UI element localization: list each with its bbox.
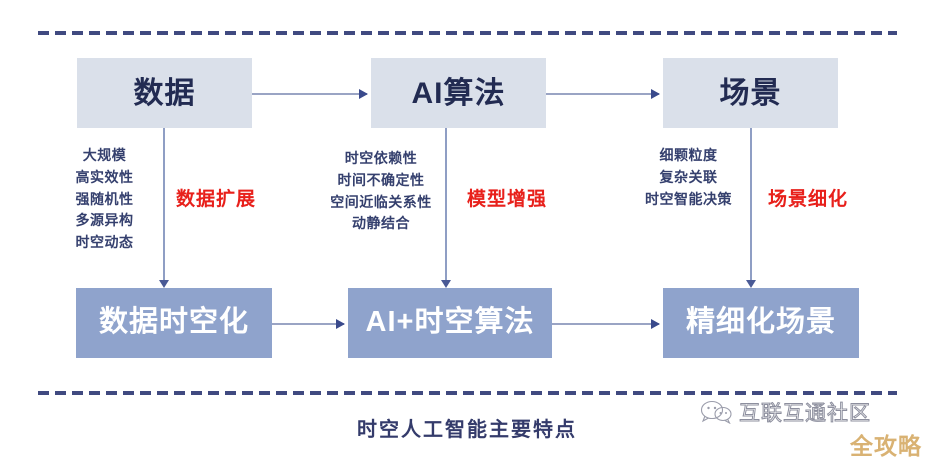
arrow-data-to-algorithm bbox=[252, 93, 367, 95]
node-fine-grained-scene: 精细化场景 bbox=[663, 288, 859, 358]
arrow-ai-spatiotemporal-to-fine-scene bbox=[552, 323, 659, 325]
feature-item: 时间不确定性 bbox=[322, 170, 440, 192]
arrow-algorithm-to-ai-spatiotemporal bbox=[445, 128, 447, 280]
transform-label-data-expansion: 数据扩展 bbox=[176, 184, 256, 211]
top-dashed-divider bbox=[38, 31, 897, 35]
feature-item: 空间近临关系性 bbox=[322, 192, 440, 214]
node-data-spatiotemporal: 数据时空化 bbox=[76, 288, 272, 358]
arrow-algorithm-to-scene bbox=[546, 93, 659, 95]
node-ai-algorithm: AI算法 bbox=[371, 58, 546, 128]
diagram-canvas: 数据 AI算法 场景 大规模 高实效性 强随机性 多源异构 时空动态 时空依赖性… bbox=[0, 0, 934, 454]
feature-list-algorithm: 时空依赖性 时间不确定性 空间近临关系性 动静结合 bbox=[322, 148, 440, 235]
feature-item: 时空动态 bbox=[52, 232, 157, 254]
wechat-bubble-icon bbox=[700, 400, 734, 424]
arrow-data-to-data-spatiotemporal bbox=[163, 128, 165, 280]
feature-item: 细颗粒度 bbox=[632, 145, 745, 167]
feature-item: 大规模 bbox=[52, 145, 157, 167]
bottom-dashed-divider bbox=[38, 391, 897, 395]
node-scene: 场景 bbox=[663, 58, 838, 128]
node-ai-spatiotemporal-algorithm: AI+时空算法 bbox=[348, 288, 552, 358]
feature-item: 复杂关联 bbox=[632, 167, 745, 189]
feature-item: 强随机性 bbox=[52, 189, 157, 211]
feature-item: 高实效性 bbox=[52, 167, 157, 189]
watermark-row: 互联互通社区 bbox=[700, 398, 930, 426]
watermark: 互联互通社区 全攻略 bbox=[700, 398, 930, 454]
watermark-brand: 互联互通社区 bbox=[739, 397, 871, 427]
arrow-scene-to-fine-scene bbox=[750, 128, 752, 280]
arrow-data-spatiotemporal-to-ai-spatiotemporal bbox=[272, 323, 344, 325]
feature-item: 多源异构 bbox=[52, 210, 157, 232]
node-data: 数据 bbox=[77, 58, 252, 128]
feature-list-scene: 细颗粒度 复杂关联 时空智能决策 bbox=[632, 145, 745, 210]
feature-item: 动静结合 bbox=[322, 213, 440, 235]
transform-label-scene-refinement: 场景细化 bbox=[768, 184, 848, 211]
feature-item: 时空智能决策 bbox=[632, 189, 745, 211]
watermark-subtitle: 全攻略 bbox=[700, 427, 930, 461]
feature-list-data: 大规模 高实效性 强随机性 多源异构 时空动态 bbox=[52, 145, 157, 254]
transform-label-model-enhancement: 模型增强 bbox=[467, 184, 547, 211]
feature-item: 时空依赖性 bbox=[322, 148, 440, 170]
